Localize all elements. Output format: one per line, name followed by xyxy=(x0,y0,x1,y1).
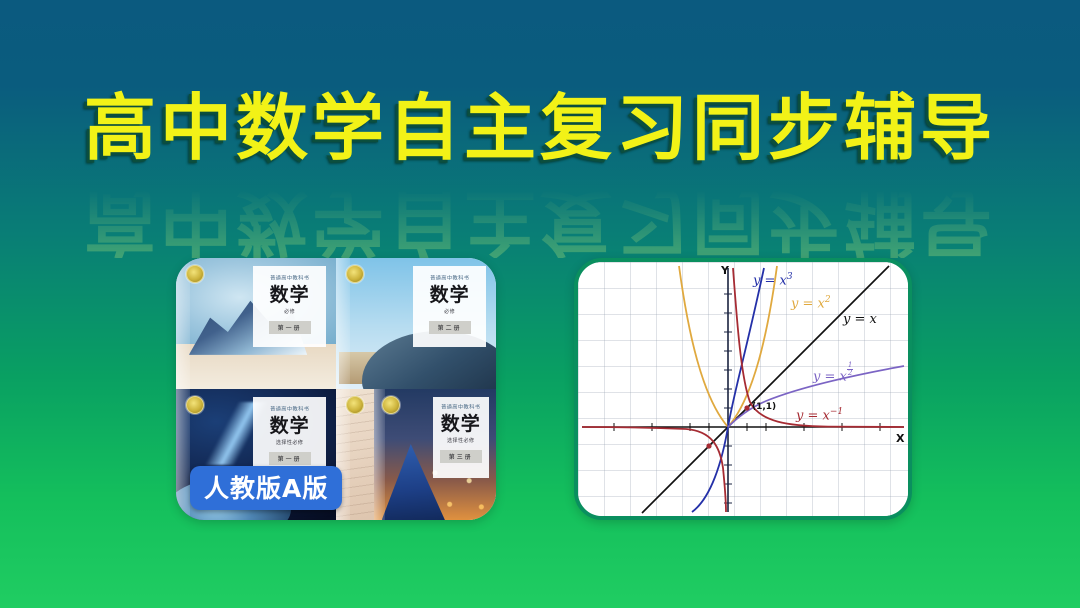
book-series: 选择性必修 xyxy=(447,437,475,444)
title-reflection: 高中数学自主复习同步辅导 xyxy=(0,186,1080,266)
chart-axes xyxy=(582,268,904,512)
book-volume: 第一册 xyxy=(269,452,311,465)
slide-canvas: 高中数学自主复习同步辅导 高中数学自主复习同步辅导 普通高中教科书 数学 必修 … xyxy=(0,0,1080,608)
publisher-emblem-icon xyxy=(382,396,400,414)
chart-svg xyxy=(578,262,908,516)
publisher-emblem-icon xyxy=(346,265,364,283)
book-cover-strip: 普通高中教科书 数学 必修 第二册 xyxy=(413,266,487,347)
series-y-equals-x xyxy=(642,266,889,513)
book-series: 必修 xyxy=(284,308,295,315)
book-volume: 第一册 xyxy=(269,321,311,334)
book-series: 选择性必修 xyxy=(276,439,304,446)
book-publisher: 普通高中教科书 xyxy=(441,403,480,411)
publisher-emblem-icon xyxy=(186,396,204,414)
point-annotation: (1,1) xyxy=(752,402,776,412)
x-axis-label: X xyxy=(896,432,904,445)
power-function-chart-card: Y X y = x3 y = x2 y = x y = x12 y = x−1 … xyxy=(574,258,912,520)
book-subject: 数学 xyxy=(430,286,470,305)
title-block: 高中数学自主复习同步辅导 xyxy=(0,92,1080,164)
book-subject: 数学 xyxy=(270,286,310,305)
book-volume: 第三册 xyxy=(440,450,482,463)
book-cover-strip: 普通高中教科书 数学 必修 第一册 xyxy=(253,266,327,347)
publisher-emblem-icon xyxy=(346,396,364,414)
book-publisher: 普通高中教科书 xyxy=(270,406,309,414)
book-publisher: 普通高中教科书 xyxy=(430,275,469,283)
textbook-item: 普通高中教科书 数学 选择性必修 第三册 xyxy=(374,389,496,520)
book-subject: 数学 xyxy=(441,415,481,434)
publisher-emblem-icon xyxy=(186,265,204,283)
textbooks-image-card: 普通高中教科书 数学 必修 第一册 普通高中教科书 数学 必修 第二册 xyxy=(176,258,496,520)
book-subject: 数学 xyxy=(270,417,310,436)
title-reflection-text: 高中数学自主复习同步辅导 xyxy=(84,186,996,258)
edition-badge: 人教版A版 xyxy=(190,466,342,510)
textbook-item: 普通高中教科书 数学 必修 第一册 xyxy=(176,258,336,389)
textbook-item: 普通高中教科书 数学 必修 第二册 xyxy=(336,258,496,389)
page-title: 高中数学自主复习同步辅导 xyxy=(0,92,1080,164)
book-series: 必修 xyxy=(444,308,455,315)
chart-plot-area: Y X y = x3 y = x2 y = x y = x12 y = x−1 … xyxy=(578,262,908,516)
y-axis-label: Y xyxy=(721,264,729,277)
book-publisher: 普通高中教科书 xyxy=(270,275,309,283)
book-cover-strip: 普通高中教科书 数学 选择性必修 第三册 xyxy=(433,397,489,478)
book-volume: 第二册 xyxy=(429,321,471,334)
intersection-point-neg1-neg1 xyxy=(706,443,711,448)
intersection-point-1-1 xyxy=(744,405,749,410)
